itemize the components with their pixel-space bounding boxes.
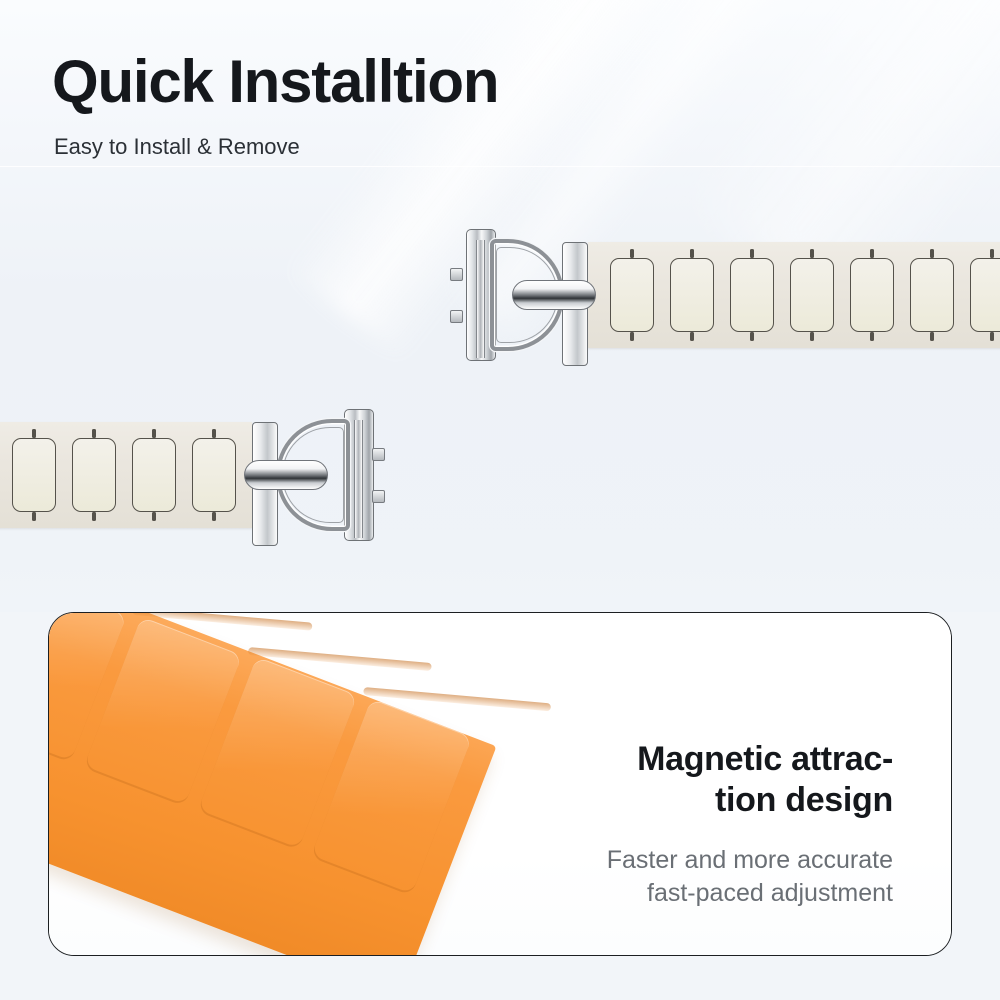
background-divider (0, 166, 1000, 167)
clasp-lug (450, 268, 463, 281)
clasp-plate-inner (476, 240, 485, 358)
band-segment (970, 258, 1000, 332)
feature-description-line-2: fast-paced adjustment (463, 877, 893, 910)
band-illustration-upper (440, 212, 1000, 377)
feature-title-line-1: Magnetic attrac- (463, 739, 893, 780)
feature-title-line-2: tion design (463, 780, 893, 821)
band-segment (910, 258, 954, 332)
feature-photo-panel: Magnetic attrac- tion design Faster and … (48, 612, 952, 956)
band-segment (12, 438, 56, 512)
feature-description-line-1: Faster and more accurate (463, 844, 893, 877)
band-strap (0, 422, 252, 528)
clasp-pin-bar (244, 460, 328, 490)
band-illustration-lower (0, 392, 400, 557)
band-segment (610, 258, 654, 332)
band-segment (790, 258, 834, 332)
band-segment (72, 438, 116, 512)
band-segment (132, 438, 176, 512)
feature-text-block: Magnetic attrac- tion design Faster and … (463, 739, 893, 910)
feature-title: Magnetic attrac- tion design (463, 739, 893, 822)
clasp-plate-inner (354, 420, 363, 538)
clasp-lug (372, 448, 385, 461)
band-segment (850, 258, 894, 332)
page-subtitle: Easy to Install & Remove (54, 134, 300, 160)
product-feature-image: Quick Installtion Easy to Install & Remo… (0, 0, 1000, 1000)
clasp-lug (450, 310, 463, 323)
band-segment (730, 258, 774, 332)
magnetic-clasp-hardware (234, 406, 384, 544)
magnetic-clasp-hardware (456, 226, 606, 364)
clasp-lug (372, 490, 385, 503)
band-strap (588, 242, 1000, 348)
band-segment (192, 438, 236, 512)
feature-description: Faster and more accurate fast-paced adju… (463, 844, 893, 911)
page-title: Quick Installtion (52, 47, 498, 116)
clasp-pin-bar (512, 280, 596, 310)
band-segment (670, 258, 714, 332)
